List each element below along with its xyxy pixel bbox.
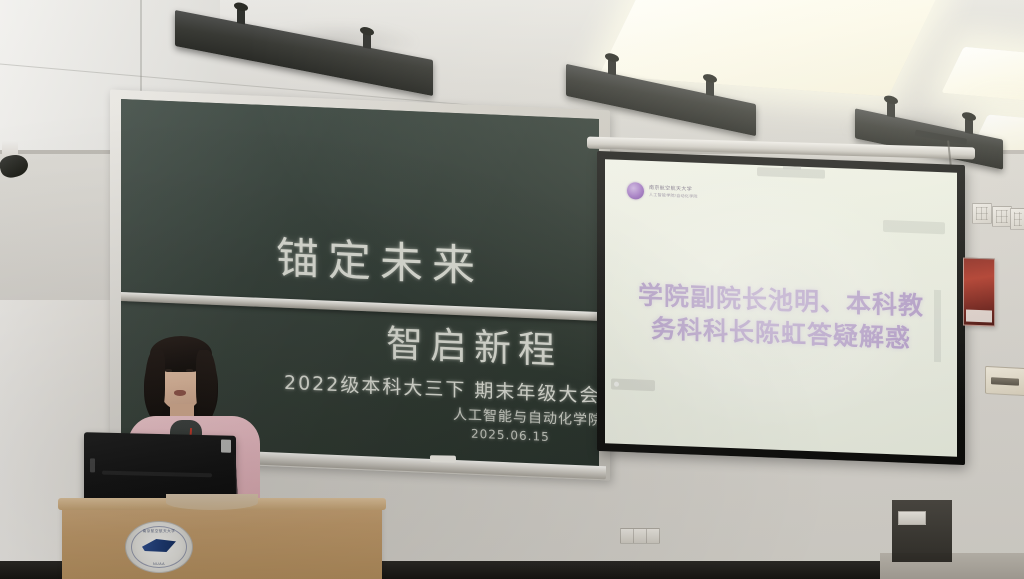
poster-caption-strip [966, 310, 992, 323]
device-slot-icon [991, 377, 1019, 385]
electrical-box-2[interactable] [992, 206, 1012, 227]
classroom-photo: 锚定未来 智启新程 2022级本科大三下 期末年级大会 人工智能与自动化学院 2… [0, 0, 1024, 579]
electrical-box-1[interactable] [972, 203, 992, 224]
wall-light-switch[interactable] [620, 528, 660, 544]
university-logo-icon [627, 182, 644, 200]
fluorescent-light-2 [941, 47, 1024, 103]
red-poster [963, 257, 995, 326]
light-mount-rod [237, 7, 245, 25]
slide-title: 学院副院长池明、本科教 务科科长陈虹答疑解惑 [621, 278, 941, 356]
wall-mounted-device[interactable] [985, 366, 1024, 396]
lectern-notch [166, 494, 258, 510]
door-opening [892, 500, 952, 562]
emblem-text-bottom: NUAA [126, 562, 192, 566]
lectern: 南京航空航天大学 NUAA [62, 505, 382, 579]
light-mount-rod [608, 58, 616, 76]
switch-rocker-2[interactable] [634, 529, 647, 543]
slide-surface: 南京航空航天大学 人工智能学院/自动化学院 学院副院长池明、本科教 务科科长陈虹… [605, 159, 957, 457]
slide-logo: 南京航空航天大学 人工智能学院/自动化学院 [627, 182, 698, 202]
speaker-eye-right [186, 369, 193, 372]
speaker-eye-left [165, 369, 172, 372]
emblem-text-top: 南京航空航天大学 [126, 529, 192, 534]
electrical-box-3[interactable] [1010, 208, 1024, 230]
chalk-headline-1: 锚定未来 [276, 223, 484, 294]
chalk-eraser[interactable] [430, 455, 456, 462]
speaker-hair-left [145, 350, 165, 420]
vent-grid-icon [976, 207, 988, 220]
chalk-headline-2: 智启新程 [386, 313, 562, 374]
light-mount-rod [706, 79, 714, 97]
light-mount-rod [363, 31, 371, 49]
monitor-vent-band [102, 471, 212, 478]
slide-logo-line-2: 人工智能学院/自动化学院 [649, 193, 698, 199]
vent-grid-icon [996, 210, 1008, 223]
light-mount-rod [965, 117, 973, 135]
speaker-hair-right [196, 350, 217, 422]
slide-watermark-bottom-left [611, 378, 655, 391]
monitor-sticker [221, 439, 231, 452]
light-mount-rod [887, 100, 895, 118]
projector-screen: 南京航空航天大学 人工智能学院/自动化学院 学院副院长池明、本科教 务科科长陈虹… [597, 151, 965, 465]
university-emblem: 南京航空航天大学 NUAA [125, 521, 193, 573]
speaker-mouth [174, 390, 186, 396]
wall-outlet[interactable] [898, 511, 926, 525]
switch-rocker-1[interactable] [621, 529, 634, 543]
slide-logo-text: 南京航空航天大学 人工智能学院/自动化学院 [649, 186, 698, 199]
vent-grid-icon [1014, 212, 1022, 226]
switch-rocker-3[interactable] [647, 529, 659, 543]
slide-watermark-right [883, 220, 945, 234]
monitor-brand-icon [90, 458, 95, 472]
